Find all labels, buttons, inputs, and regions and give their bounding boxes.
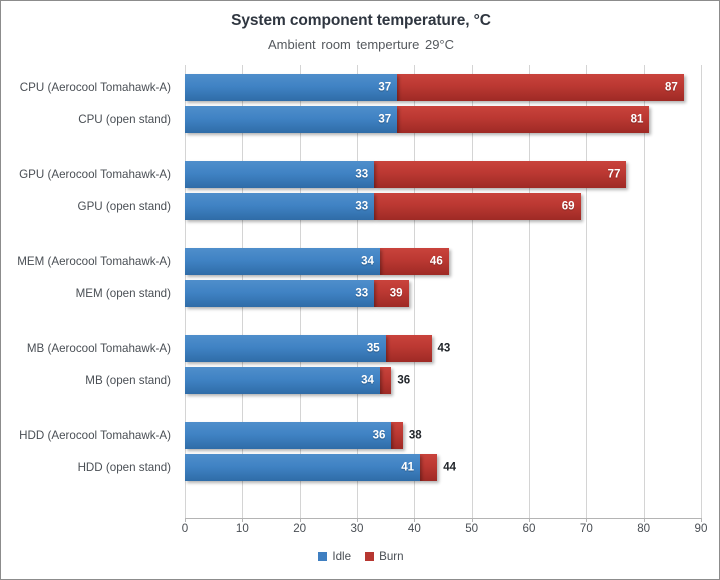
chart-window: System component temperature, °C Ambient… [0, 0, 720, 580]
data-label-idle: 37 [378, 82, 391, 94]
legend-item[interactable]: Idle [318, 550, 351, 563]
bar-segment-burn: 81 [397, 106, 649, 133]
data-label-idle: 34 [361, 256, 374, 268]
bar-row: 4441 [185, 454, 701, 481]
bar-segment-burn: 39 [374, 280, 408, 307]
category-label: MEM (open stand) [0, 288, 179, 300]
y-axis-category-labels: CPU (Aerocool Tomahawk-A)CPU (open stand… [1, 1, 179, 580]
category-label: MB (open stand) [0, 375, 179, 387]
category-label: MEM (Aerocool Tomahawk-A) [0, 256, 179, 268]
data-label-burn: 46 [430, 256, 443, 268]
bar-segment-idle: 35 [185, 335, 386, 362]
legend-label: Idle [332, 550, 351, 563]
bar-row: 3933 [185, 280, 701, 307]
category-label: HDD (open stand) [0, 462, 179, 474]
bar-row: 4335 [185, 335, 701, 362]
legend-label: Burn [379, 550, 404, 563]
data-label-burn: 38 [409, 430, 422, 442]
x-axis-tick-label: 90 [681, 522, 720, 535]
bar-segment-burn: 38 [391, 422, 402, 449]
data-label-idle: 37 [378, 114, 391, 126]
data-label-idle: 41 [401, 462, 414, 474]
bar-segment-idle: 33 [185, 280, 374, 307]
data-label-burn: 36 [397, 375, 410, 387]
x-axis-tick-label: 30 [337, 522, 377, 535]
x-axis-tick-label: 40 [394, 522, 434, 535]
category-label: GPU (Aerocool Tomahawk-A) [0, 169, 179, 181]
category-label: HDD (Aerocool Tomahawk-A) [0, 430, 179, 442]
x-axis-tick-label: 50 [452, 522, 492, 535]
data-label-idle: 33 [355, 201, 368, 213]
x-axis-tick-label: 70 [566, 522, 606, 535]
gridline [701, 65, 702, 518]
bar-segment-burn: 43 [386, 335, 432, 362]
data-label-idle: 34 [361, 375, 374, 387]
bar-row: 3836 [185, 422, 701, 449]
chart-legend: IdleBurn [1, 550, 720, 563]
bar-segment-burn: 46 [380, 248, 449, 275]
bar-segment-idle: 33 [185, 193, 374, 220]
bar-segment-idle: 37 [185, 74, 397, 101]
data-label-burn: 77 [608, 169, 621, 181]
category-label: MB (Aerocool Tomahawk-A) [0, 343, 179, 355]
bar-segment-burn: 69 [374, 193, 580, 220]
data-label-idle: 33 [355, 288, 368, 300]
bar-segment-idle: 36 [185, 422, 391, 449]
category-label: CPU (open stand) [0, 114, 179, 126]
category-label: CPU (Aerocool Tomahawk-A) [0, 82, 179, 94]
data-label-idle: 33 [355, 169, 368, 181]
data-label-idle: 36 [373, 430, 386, 442]
data-label-burn: 69 [562, 201, 575, 213]
bar-row: 8137 [185, 106, 701, 133]
bar-segment-idle: 34 [185, 248, 380, 275]
bar-row: 7733 [185, 161, 701, 188]
data-label-burn: 39 [390, 288, 403, 300]
data-label-idle: 35 [367, 343, 380, 355]
legend-swatch-burn-icon [365, 552, 374, 561]
bar-row: 4634 [185, 248, 701, 275]
legend-swatch-idle-icon [318, 552, 327, 561]
x-axis-tick-label: 80 [624, 522, 664, 535]
bar-segment-idle: 34 [185, 367, 380, 394]
bar-row: 6933 [185, 193, 701, 220]
x-axis-tick-label: 60 [509, 522, 549, 535]
bar-segment-burn: 36 [380, 367, 391, 394]
x-axis-tick-label: 10 [222, 522, 262, 535]
bar-segment-idle: 33 [185, 161, 374, 188]
data-label-burn: 81 [631, 114, 644, 126]
bar-segment-idle: 41 [185, 454, 420, 481]
data-label-burn: 43 [438, 343, 451, 355]
bar-row: 8737 [185, 74, 701, 101]
bar-segment-idle: 37 [185, 106, 397, 133]
bar-row: 3634 [185, 367, 701, 394]
legend-item[interactable]: Burn [365, 550, 404, 563]
bar-segment-burn: 87 [397, 74, 684, 101]
category-label: GPU (open stand) [0, 201, 179, 213]
bar-segment-burn: 77 [374, 161, 626, 188]
x-axis-line [185, 518, 702, 519]
plot-area: 8737813777336933463439334335363438364441 [185, 65, 701, 518]
x-axis-tick-label: 20 [280, 522, 320, 535]
bar-segment-burn: 44 [420, 454, 437, 481]
data-label-burn: 87 [665, 82, 678, 94]
data-label-burn: 44 [443, 462, 456, 474]
